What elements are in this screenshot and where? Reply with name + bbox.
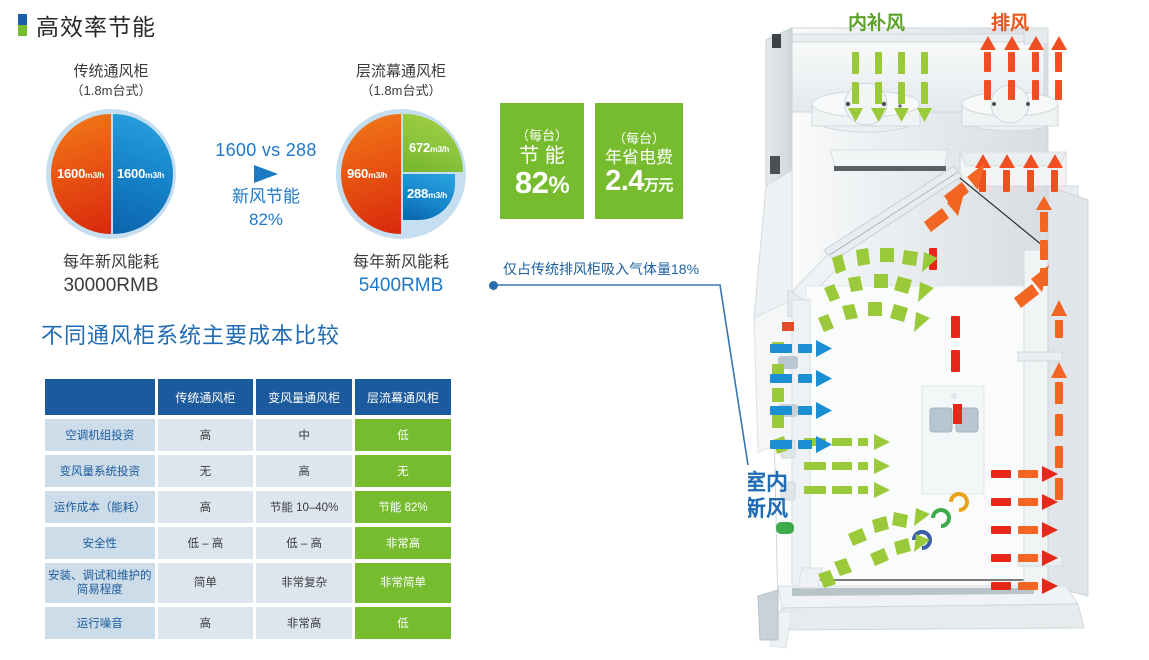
row-label: 安全性 xyxy=(45,527,155,559)
cell-vav: 非常复杂 xyxy=(256,563,352,603)
pie-footer-conventional: 每年新风能耗 30000RMB xyxy=(43,253,179,298)
table-header-conventional: 传统通风柜 xyxy=(158,379,254,415)
pie-slice-label-room-air: 288m3/h xyxy=(407,186,447,201)
table-row: 空调机组投资 高 中 低 xyxy=(45,419,451,451)
table-row: 变风量系统投资 无 高 无 xyxy=(45,455,451,487)
pie-core: 1600m3/h 1600m3/h xyxy=(51,114,171,234)
pie-card-laminar: 层流幕通风柜 （1.8m台式） 960m3/h 672m3/h 288m3/h … xyxy=(333,62,469,298)
pie-slice-label-supply: 1600m3/h xyxy=(117,166,164,181)
table-header-row: 传统通风柜 变风量通风柜 层流幕通风柜 xyxy=(45,379,451,415)
pie-core: 960m3/h 672m3/h 288m3/h xyxy=(341,114,461,234)
badge-annual-cost-saving: （每台） 年省电费 2.4万元 xyxy=(595,103,683,219)
table-row: 运行噪音 高 非常高 低 xyxy=(45,607,451,639)
pie-chart-conventional: 1600m3/h 1600m3/h xyxy=(46,109,176,239)
label-supply-air: 内补风 xyxy=(848,8,905,35)
comparison-result: 新风节能 82% xyxy=(196,186,336,232)
cell-vav: 低 – 高 xyxy=(256,527,352,559)
infographic-page: 高效率节能 传统通风柜 （1.8m台式） 1600m3/h 1600m3/h 每… xyxy=(0,0,1149,660)
pie-footer-laminar: 每年新风能耗 5400RMB xyxy=(333,253,469,298)
cell-laminar: 低 xyxy=(355,607,451,639)
page-header: 高效率节能 xyxy=(18,8,156,42)
table-header-vav: 变风量通风柜 xyxy=(256,379,352,415)
cell-conventional: 低 – 高 xyxy=(158,527,254,559)
table-header-blank xyxy=(45,379,155,415)
page-title: 高效率节能 xyxy=(36,8,156,42)
cell-laminar: 无 xyxy=(355,455,451,487)
row-label: 运作成本（能耗） xyxy=(45,491,155,523)
row-label: 安装、调试和维护的简易程度 xyxy=(45,563,155,603)
table-row: 安全性 低 – 高 低 – 高 非常高 xyxy=(45,527,451,559)
pie-chart-laminar: 960m3/h 672m3/h 288m3/h xyxy=(336,109,466,239)
row-label: 变风量系统投资 xyxy=(45,455,155,487)
fume-hood-illustration xyxy=(748,0,1149,660)
pie-slice-label-exhaust: 1600m3/h xyxy=(57,166,104,181)
badge-energy-saving: （每台） 节 能 82% xyxy=(500,103,584,219)
comparison-ratio: 1600 vs 288 xyxy=(196,140,336,161)
savings-badges: （每台） 节 能 82% （每台） 年省电费 2.4万元 xyxy=(500,103,683,219)
pie-card-conventional: 传统通风柜 （1.8m台式） 1600m3/h 1600m3/h 每年新风能耗 … xyxy=(43,62,179,298)
badge-value: 2.4万元 xyxy=(605,167,673,197)
cell-laminar: 非常高 xyxy=(355,527,451,559)
table-row: 运作成本（能耗） 高 节能 10–40% 节能 82% xyxy=(45,491,451,523)
table-row: 安装、调试和维护的简易程度 简单 非常复杂 非常简单 xyxy=(45,563,451,603)
callout-leader-line xyxy=(480,270,770,490)
comparison-summary: 1600 vs 288 新风节能 82% xyxy=(196,140,336,232)
pie-slice-label-internal-supply: 672m3/h xyxy=(409,140,449,155)
badge-value: 82% xyxy=(515,167,569,199)
cell-conventional: 无 xyxy=(158,455,254,487)
fume-hood-diagram: 内补风 排风 室内新风 xyxy=(748,0,1149,660)
arrow-right-icon xyxy=(254,165,278,183)
table-header-laminar: 层流幕通风柜 xyxy=(355,379,451,415)
label-room-air: 室内新风 xyxy=(748,470,788,523)
header-bullet-icon xyxy=(18,14,27,36)
cell-vav: 中 xyxy=(256,419,352,451)
cell-laminar: 低 xyxy=(355,419,451,451)
row-label: 空调机组投资 xyxy=(45,419,155,451)
cell-conventional: 高 xyxy=(158,419,254,451)
pie-slice-label-exhaust: 960m3/h xyxy=(347,166,387,181)
cell-conventional: 高 xyxy=(158,607,254,639)
cell-vav: 非常高 xyxy=(256,607,352,639)
cell-laminar: 节能 82% xyxy=(355,491,451,523)
cell-vav: 节能 10–40% xyxy=(256,491,352,523)
cell-vav: 高 xyxy=(256,455,352,487)
cell-conventional: 简单 xyxy=(158,563,254,603)
callout-dot-icon xyxy=(489,281,498,290)
cell-conventional: 高 xyxy=(158,491,254,523)
row-label: 运行噪音 xyxy=(45,607,155,639)
label-exhaust-air: 排风 xyxy=(991,8,1029,35)
pie-caption-conventional: 传统通风柜 （1.8m台式） xyxy=(43,62,179,100)
pie-caption-laminar: 层流幕通风柜 （1.8m台式） xyxy=(333,62,469,100)
cell-laminar: 非常简单 xyxy=(355,563,451,603)
cost-comparison-table: 传统通风柜 变风量通风柜 层流幕通风柜 空调机组投资 高 中 低 变风量系统投资… xyxy=(42,375,454,643)
section-title: 不同通风柜系统主要成本比较 xyxy=(41,318,340,350)
